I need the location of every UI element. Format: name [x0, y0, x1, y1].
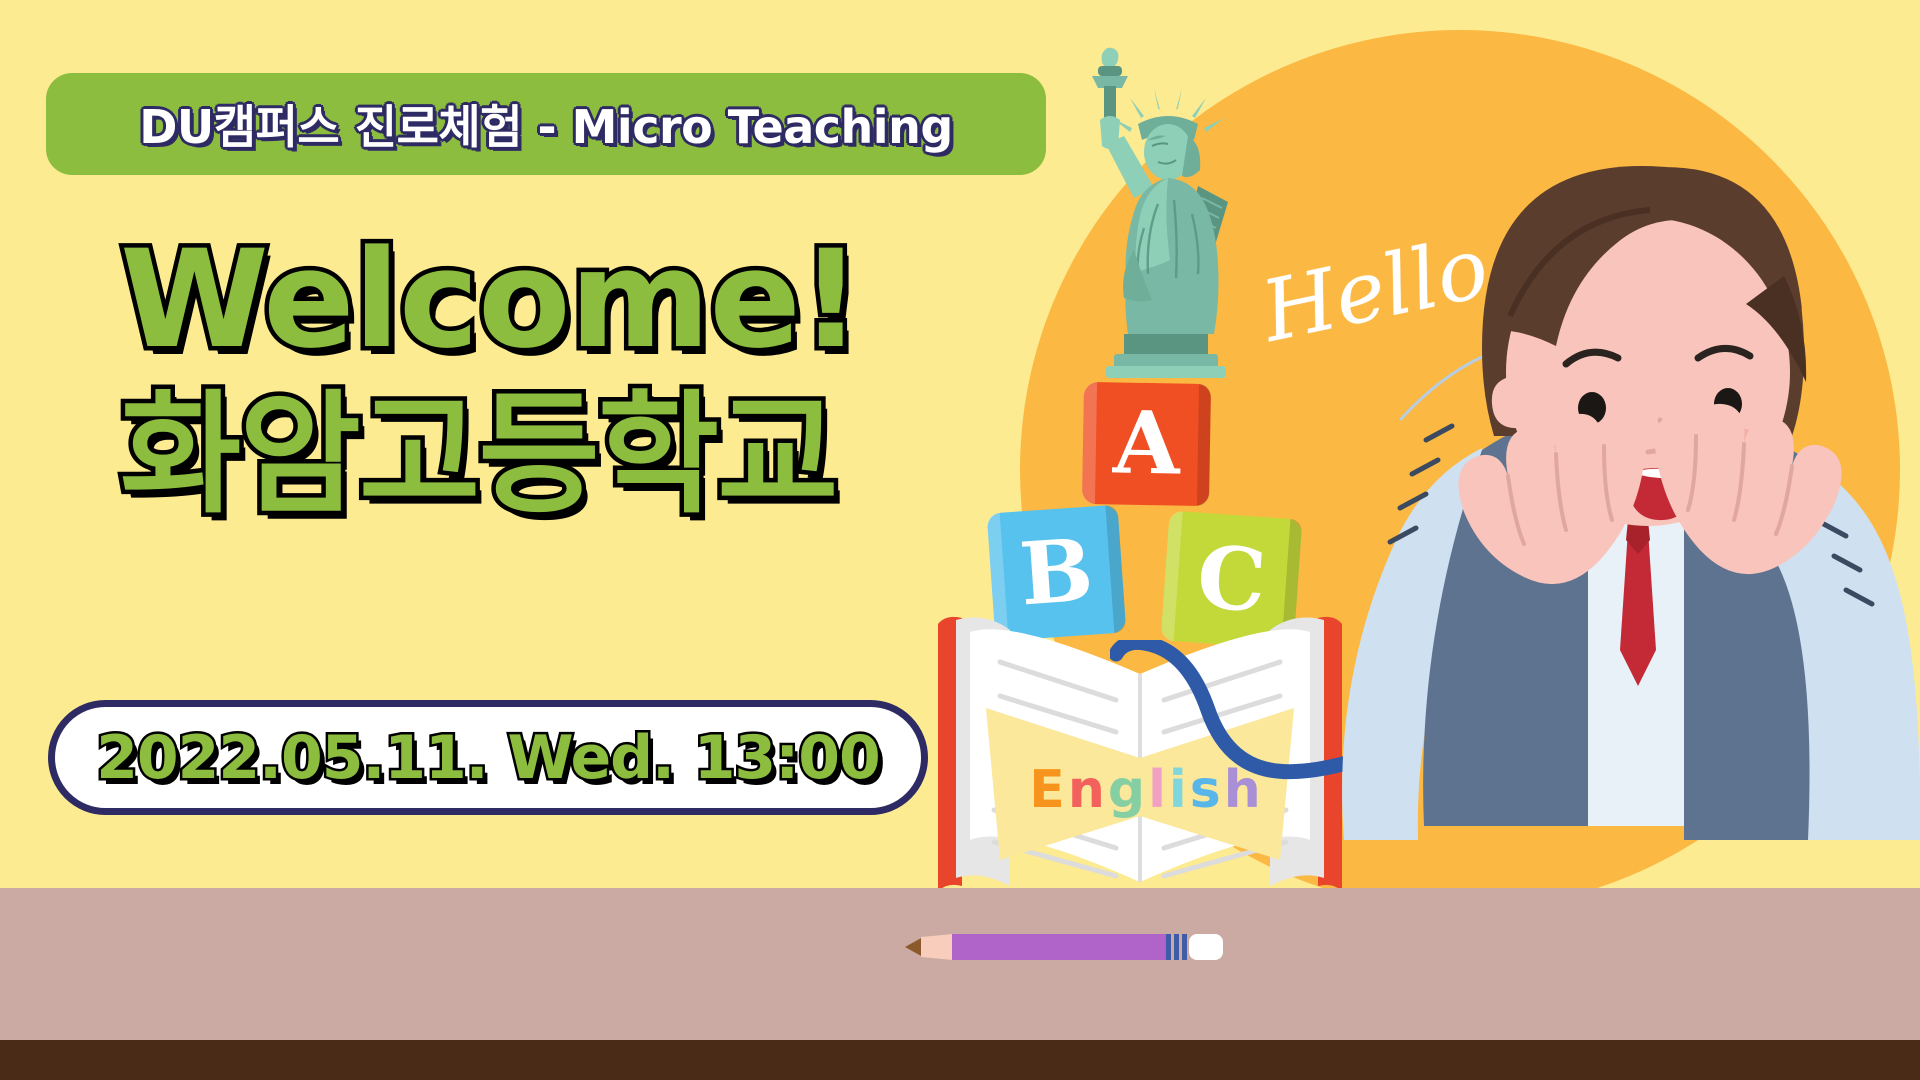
schedule-pill: 2022.05.11. Wed. 13:00	[48, 700, 928, 815]
english-letter-n: n	[1068, 760, 1105, 820]
poster-canvas: Hello A B C E	[0, 0, 1920, 1080]
boy-student-illustration	[1330, 120, 1920, 920]
event-title-text: DU캠퍼스 진로체험 - Micro Teaching	[139, 91, 953, 157]
schedule-date-time: 2022.05.11. Wed. 13:00	[96, 723, 880, 793]
headline-school-name: 화암고등학교	[120, 389, 1000, 521]
block-letter-b: B	[1017, 528, 1096, 619]
headline-welcome: Welcome!	[120, 232, 1000, 367]
alphabet-block-a: A	[1082, 382, 1211, 506]
headline-block: Welcome! 화암고등학교	[120, 232, 1000, 521]
floor-band	[0, 1040, 1920, 1080]
block-letter-a: A	[1112, 400, 1180, 487]
statue-of-liberty-illustration	[1062, 28, 1252, 378]
english-letter-e: E	[1029, 760, 1065, 820]
pencil-illustration	[905, 928, 1225, 966]
event-title-chip: DU캠퍼스 진로체험 - Micro Teaching	[46, 73, 1046, 175]
